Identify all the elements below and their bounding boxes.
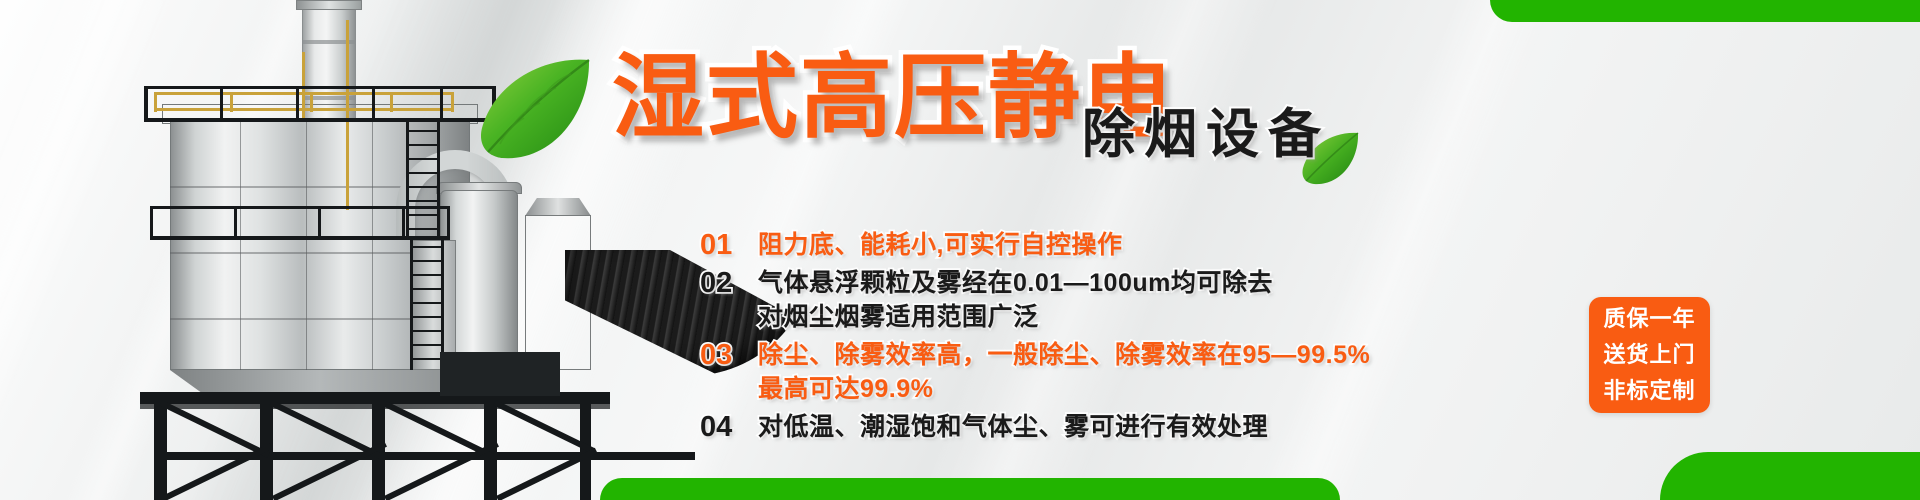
promo-banner: 湿式高压静电 除烟设备 01 阻力底、能耗小,可实行自控操作 02 气体悬浮颗粒… [0, 0, 1920, 500]
list-item: 03 除尘、除雾效率高，一般除尘、除雾效率在95—99.5% 最高可达99.9% [700, 338, 1540, 406]
feature-text: 除尘、除雾效率高，一般除尘、除雾效率在95—99.5% [758, 338, 1540, 372]
list-item: 02 气体悬浮颗粒及雾经在0.01—100um均可除去 对烟尘烟雾适用范围广泛 [700, 266, 1540, 334]
ladder [406, 122, 440, 236]
leaf-icon [476, 54, 596, 162]
feature-text: 最高可达99.9% [758, 372, 1540, 406]
feature-text: 对烟尘烟雾适用范围广泛 [758, 300, 1540, 334]
green-bar-top-right [1490, 0, 1920, 22]
badge-line-custom: 非标定制 [1603, 374, 1695, 408]
page-subtitle: 除烟设备 [1082, 108, 1330, 161]
feature-text: 对低温、潮湿饱和气体尘、雾可进行有效处理 [758, 410, 1540, 444]
feature-number: 03 [700, 338, 758, 372]
feature-list: 01 阻力底、能耗小,可实行自控操作 02 气体悬浮颗粒及雾经在0.01—100… [700, 228, 1540, 448]
list-item: 01 阻力底、能耗小,可实行自控操作 [700, 228, 1540, 262]
promo-badge[interactable]: 质保一年 送货上门 非标定制 [1589, 297, 1710, 413]
feature-text: 阻力底、能耗小,可实行自控操作 [758, 228, 1540, 262]
feature-number: 01 [700, 228, 758, 262]
green-bar-bottom-right [1660, 452, 1920, 500]
ladder [410, 240, 444, 370]
feature-text: 气体悬浮颗粒及雾经在0.01—100um均可除去 [758, 266, 1540, 300]
badge-line-warranty: 质保一年 [1603, 302, 1695, 336]
green-bar-bottom-center [600, 478, 1340, 500]
list-item: 04 对低温、潮湿饱和气体尘、雾可进行有效处理 [700, 410, 1540, 444]
feature-number: 04 [700, 410, 758, 444]
badge-line-delivery: 送货上门 [1603, 338, 1695, 372]
feature-number: 02 [700, 266, 758, 300]
